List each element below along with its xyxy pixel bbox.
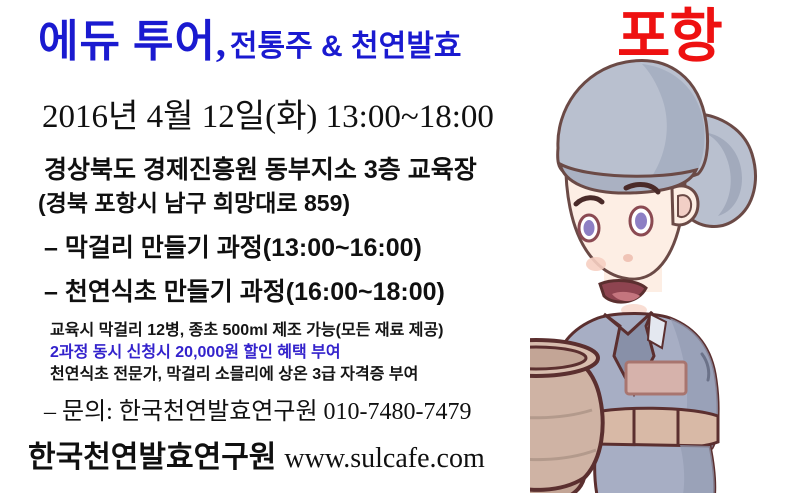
- chest-patch-shape: [626, 362, 686, 394]
- title-main-text: 에듀 투어: [38, 20, 216, 64]
- title-city-text: 포항: [617, 8, 722, 66]
- nose-shape: [623, 254, 633, 262]
- venue-address: (경북 포항시 남구 희망대로 859): [38, 192, 350, 215]
- clay-jar-figure: [530, 340, 603, 493]
- left-cheek-blush: [586, 257, 606, 271]
- course-item-vinegar: – 천연식초 만들기 과정(16:00~18:00): [44, 280, 445, 305]
- footer: 한국천연발효연구원 www.sulcafe.com: [28, 443, 485, 473]
- footer-organization: 한국천연발효연구원: [28, 443, 276, 473]
- title-subtitle-text: 전통주 & 천연발효: [230, 32, 462, 62]
- ear-inner-shape: [678, 195, 691, 217]
- footer-website[interactable]: www.sulcafe.com: [284, 445, 484, 473]
- venue-name: 경상북도 경제진흥원 동부지소 3층 교육장: [44, 158, 477, 183]
- right-eye-pupil: [635, 213, 647, 230]
- poster-title: 에듀 투어 , 전통주 & 천연발효: [38, 20, 461, 64]
- fine-print-discount: 2과정 동시 신청시 20,000원 할인 혜택 부여: [50, 345, 341, 361]
- course-item-makgeolli: – 막걸리 만들기 과정(13:00~16:00): [44, 236, 422, 261]
- illustration-group: [530, 36, 800, 493]
- fine-print-materials: 교육시 막걸리 12병, 종초 500ml 제조 가능(모든 재료 제공): [50, 323, 444, 339]
- poster-canvas: 에듀 투어 , 전통주 & 천연발효 포항 2016년 4월 12일(화) 13…: [0, 0, 800, 493]
- event-date-time: 2016년 4월 12일(화) 13:00~18:00: [42, 101, 494, 134]
- skirt-shade: [680, 445, 715, 493]
- title-comma: ,: [216, 23, 226, 63]
- left-eye-pupil: [584, 220, 595, 236]
- contact-info: – 문의: 한국천연발효연구원 010-7480-7479: [44, 400, 472, 424]
- fine-print-certificate: 천연식초 전문가, 막걸리 소믈리에 상온 3급 자격증 부여: [50, 367, 418, 383]
